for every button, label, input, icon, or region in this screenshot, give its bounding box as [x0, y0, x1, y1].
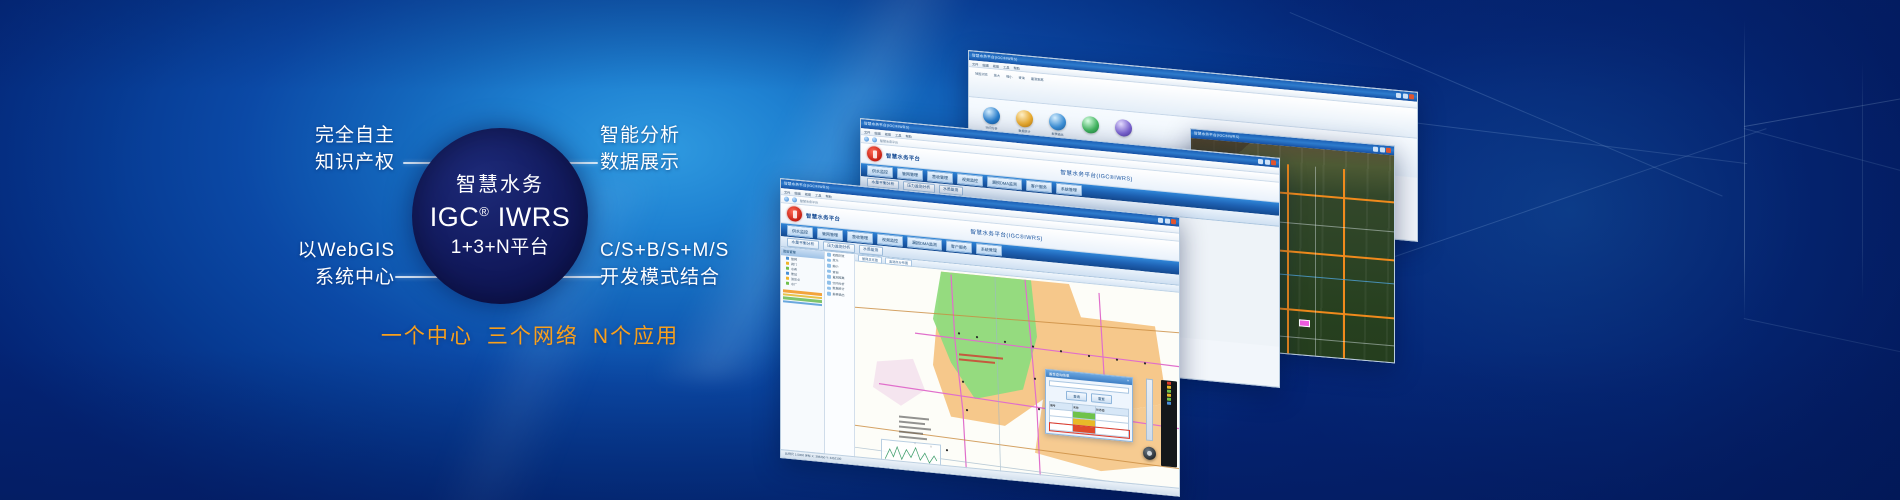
status-indicator-yellow: [1167, 386, 1171, 389]
feature-label-bottom-right: C/S+B/S+M/S 开发模式结合: [600, 237, 830, 291]
panel-result-table: 编号 名称 状态值: [1049, 401, 1129, 438]
window-controls[interactable]: [1373, 147, 1391, 154]
status-indicator-blue: [1167, 402, 1171, 405]
pan-navigation-pad[interactable]: [1143, 446, 1156, 460]
ribbon-label-5[interactable]: 量测距离: [1031, 76, 1044, 100]
toolbar-icon-zoom[interactable]: 数据统计: [1016, 109, 1033, 134]
tagline: 一个中心三个网络N个应用: [320, 320, 740, 350]
label-line-2: 开发模式结合: [600, 267, 720, 288]
menu-view[interactable]: 视图: [993, 63, 999, 69]
label-line-2: 系统中心: [315, 267, 395, 288]
status-indicator-green: [1167, 390, 1171, 393]
address-text: 智慧水务平台: [880, 138, 898, 144]
reset-button[interactable]: 重置: [1091, 393, 1112, 404]
nav-button[interactable]: 视频监控: [957, 173, 983, 186]
feature-label-bottom-left: 以WebGIS 系统中心: [195, 237, 395, 291]
app-logo-icon: [867, 146, 882, 162]
back-icon[interactable]: [864, 136, 869, 141]
toolbar-icon-measure[interactable]: [1082, 116, 1099, 141]
nav-button[interactable]: 管网管理: [897, 168, 923, 181]
product-screenshots-group: 智慧水务平台(IGC®IWRS) 文件 编辑 视图 工具 帮助 地图浏览 放大 …: [780, 30, 1900, 470]
menu-view[interactable]: 视图: [885, 131, 891, 137]
window-controls[interactable]: [1396, 93, 1414, 100]
menu-edit[interactable]: 编辑: [794, 190, 800, 196]
panel-body: 查询 重置 编号 名称 状态值: [1046, 377, 1132, 441]
menu-tools[interactable]: 工具: [815, 192, 821, 198]
label-line-1: C/S+B/S+M/S: [600, 240, 729, 261]
toolbar-icon-browse[interactable]: 空间分析: [983, 106, 1000, 131]
banner-stage: 智慧水务平台(IGC®IWRS) 文件 编辑 视图 工具 帮助 地图浏览 放大 …: [0, 0, 1900, 500]
address-text: 智慧水务平台: [800, 198, 818, 204]
label-line-2: 知识产权: [315, 152, 395, 173]
map-marker[interactable]: [1299, 319, 1310, 327]
menu-help[interactable]: 帮助: [826, 193, 832, 199]
nav-button[interactable]: 供水监控: [867, 165, 893, 178]
app-logo-icon: [787, 206, 802, 222]
hub-brand-iwrs: IWRS: [498, 202, 571, 232]
status-indicator-green-2: [1167, 398, 1171, 401]
status-readout-panel: [1161, 380, 1177, 468]
road-line: [1343, 169, 1345, 363]
window-controls[interactable]: [1258, 159, 1276, 166]
menu-help[interactable]: 帮助: [906, 133, 912, 139]
menu-tools[interactable]: 工具: [895, 132, 901, 138]
feature-label-top-left: 完全自主 知识产权: [195, 122, 395, 176]
menu-view[interactable]: 视图: [805, 191, 811, 197]
hub-chinese-title: 智慧水务: [456, 175, 544, 195]
center-hub-circle: 智慧水务 IGC®IWRS 1+3+N平台: [412, 128, 588, 304]
nav-button[interactable]: 系统管理: [1056, 183, 1082, 196]
nav-button[interactable]: 营收管理: [927, 170, 953, 183]
close-icon[interactable]: ×: [1127, 379, 1129, 384]
label-line-1: 智能分析: [600, 125, 680, 146]
road-line: [1287, 164, 1289, 363]
label-line-1: 完全自主: [315, 125, 395, 146]
menu-help[interactable]: 帮助: [1014, 65, 1020, 71]
tagline-part-3: N个应用: [593, 325, 679, 348]
tagline-part-1: 一个中心: [381, 325, 473, 348]
ribbon-label-1[interactable]: 地图浏览: [975, 71, 988, 95]
ribbon-label-2[interactable]: 放大: [994, 72, 1000, 96]
menu-file[interactable]: 文件: [864, 129, 870, 135]
search-icon: [1049, 113, 1066, 132]
menu-tools[interactable]: 工具: [1003, 64, 1009, 70]
menu-file[interactable]: 文件: [972, 61, 978, 67]
hub-brand-igc: IGC: [430, 202, 480, 232]
menu-file[interactable]: 文件: [784, 189, 790, 195]
feature-label-top-right: 智能分析 数据展示: [600, 122, 830, 176]
app-window-gis-main[interactable]: 智慧水务平台(IGC®IWRS) 文件 编辑 视图 工具 帮助 智慧水务平台 智…: [780, 178, 1180, 497]
nav-button[interactable]: 客户服务: [1026, 180, 1052, 193]
app-brand-name: 智慧水务平台: [806, 211, 840, 222]
status-indicator-yellow-2: [1167, 394, 1171, 397]
zoom-icon: [1016, 109, 1033, 128]
forward-icon[interactable]: [792, 197, 797, 202]
attribute-row[interactable]: 管线标注: [781, 462, 824, 471]
subnav-button[interactable]: 水质监测: [859, 244, 883, 255]
hub-brand-line: IGC®IWRS: [430, 204, 571, 231]
minor-road: [1315, 167, 1316, 364]
ruler-icon: [1082, 116, 1099, 135]
ribbon-label-3[interactable]: 缩小: [1006, 74, 1012, 98]
window-controls[interactable]: [1158, 218, 1176, 225]
label-line-2: 数据展示: [600, 152, 680, 173]
forward-icon[interactable]: [872, 137, 877, 142]
zoom-slider[interactable]: [1146, 379, 1153, 442]
app-brand-name: 智慧水务平台: [886, 151, 920, 162]
menu-edit[interactable]: 编辑: [874, 130, 880, 136]
toolbar-icon-stats[interactable]: [1115, 119, 1132, 144]
registered-icon: ®: [479, 204, 489, 219]
toolbar-icon-query[interactable]: 报表输出: [1049, 113, 1066, 138]
tagline-part-2: 三个网络: [487, 325, 579, 348]
menu-edit[interactable]: 编辑: [982, 62, 988, 68]
hub-platform-label: 1+3+N平台: [451, 238, 550, 257]
query-result-panel[interactable]: 属性查询结果 × 查询 重置 编号: [1045, 369, 1133, 443]
label-line-1: 以WebGIS: [298, 240, 395, 261]
status-indicator-red: [1167, 382, 1171, 385]
chart-icon: [1115, 119, 1132, 138]
globe-icon: [983, 106, 1000, 125]
back-icon[interactable]: [784, 196, 789, 201]
query-button[interactable]: 查询: [1066, 391, 1087, 402]
ribbon-label-4[interactable]: 查询: [1019, 75, 1025, 99]
